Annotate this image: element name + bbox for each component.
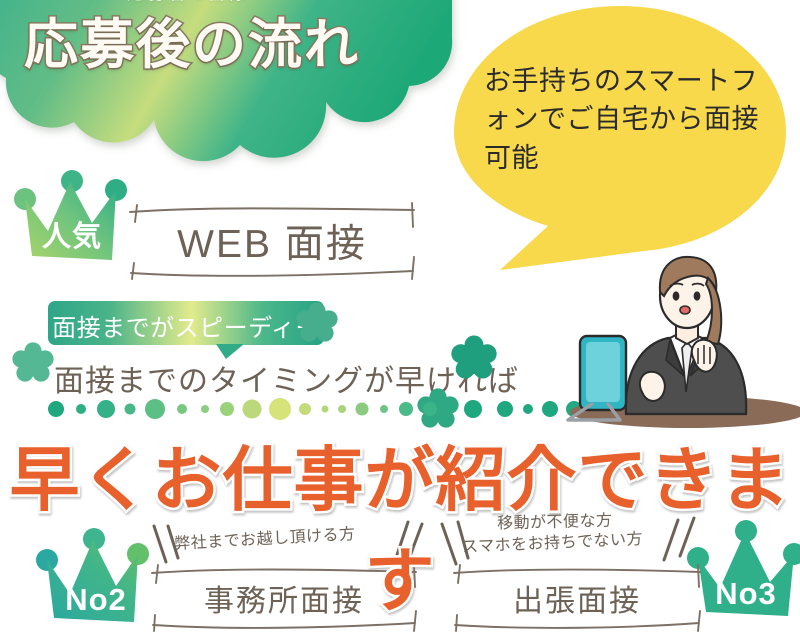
header-cloud: 応募者の皆様へ 応募後の流れ — [0, 0, 462, 160]
illustration-woman-web-interview — [546, 252, 800, 430]
flower-icon-3 — [452, 335, 496, 379]
crown-icon-ninki: 人気 — [12, 168, 132, 268]
page-title: 応募後の流れ — [0, 0, 402, 79]
flower-icon-1 — [297, 302, 337, 342]
main-headline: 早くお仕事が紹介できます — [0, 424, 800, 626]
divider-dots — [24, 398, 524, 420]
poster-root: 応募者の皆様へ 応募後の流れ お手持ちのスマートフォンでご自宅から面接可能 人気 — [0, 0, 800, 636]
flower-icon-2 — [13, 342, 53, 382]
speed-badge-bubble: 面接までがスピーディー — [48, 301, 324, 353]
speed-badge-text: 面接までがスピーディー — [48, 301, 324, 353]
option-title-web-interview: WEB 面接 — [128, 203, 416, 279]
smartphone-callout-bubble: お手持ちのスマートフォンでご自宅から面接可能 — [448, 4, 792, 272]
option-box-web-interview[interactable]: WEB 面接 — [128, 203, 416, 279]
smartphone-callout-text: お手持ちのスマートフォンでご自宅から面接可能 — [484, 62, 774, 177]
